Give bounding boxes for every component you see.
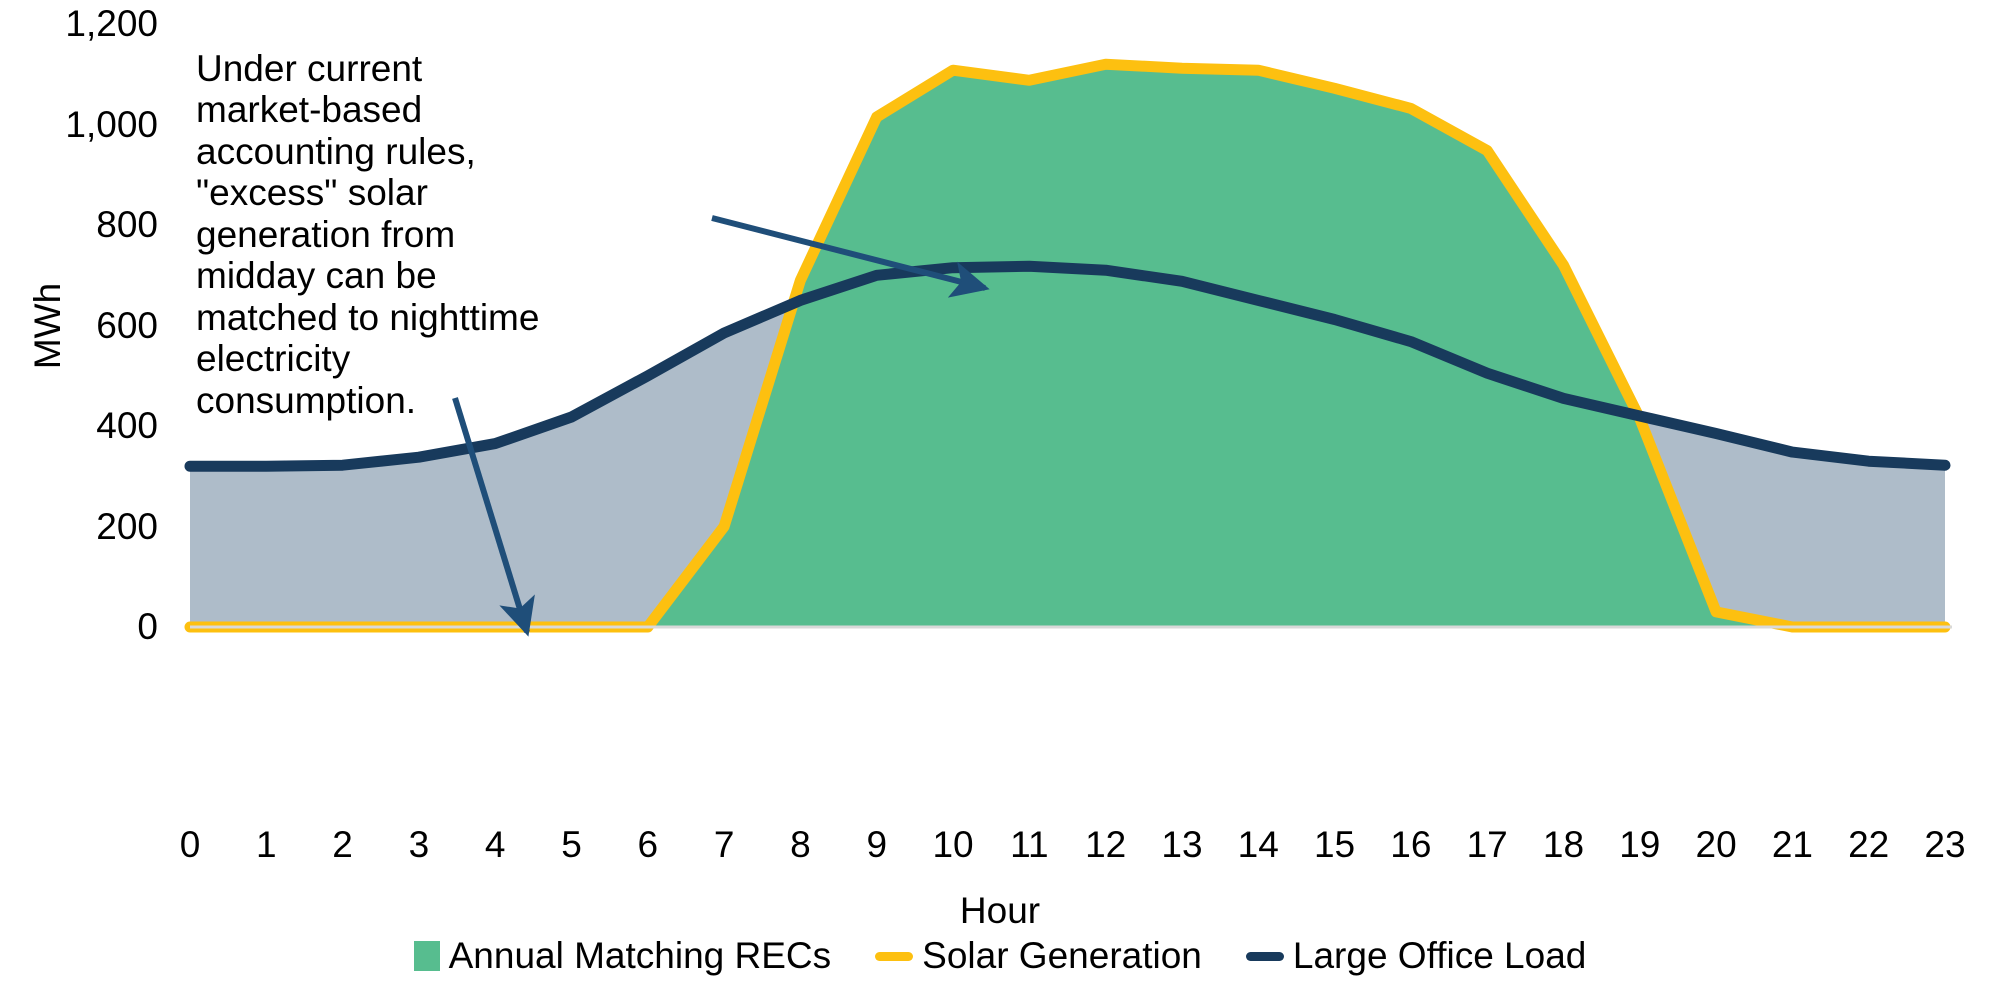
legend-item[interactable]: Annual Matching RECs (414, 935, 832, 977)
x-axis-tick: 1 (236, 826, 296, 863)
x-axis-tick: 14 (1228, 826, 1288, 863)
chart-root: 02004006008001,0001,200 0123456789101112… (0, 0, 2000, 1008)
legend-line-swatch-icon (1246, 952, 1284, 961)
x-axis-tick: 9 (847, 826, 907, 863)
x-axis-tick: 17 (1457, 826, 1517, 863)
x-axis-tick: 7 (694, 826, 754, 863)
annotation-arrow-to-nighttime-load (455, 398, 527, 632)
legend-item-label: Solar Generation (922, 935, 1202, 977)
x-axis-tick: 22 (1839, 826, 1899, 863)
legend-item-label: Annual Matching RECs (449, 935, 832, 977)
x-axis-tick: 18 (1533, 826, 1593, 863)
annotation-textbox: Under current market-based accounting ru… (196, 48, 556, 421)
legend-line-swatch-icon (875, 952, 913, 961)
y-axis-tick: 1,200 (0, 5, 158, 42)
legend-item[interactable]: Solar Generation (875, 935, 1202, 977)
y-axis-tick: 400 (0, 407, 158, 444)
x-axis-tick: 10 (923, 826, 983, 863)
legend-item-label: Large Office Load (1293, 935, 1586, 977)
chart-legend: Annual Matching RECsSolar GenerationLarg… (0, 935, 2000, 977)
y-axis-tick: 0 (0, 608, 158, 645)
x-axis-tick: 15 (1305, 826, 1365, 863)
x-axis-tick: 23 (1915, 826, 1975, 863)
x-axis-tick: 11 (999, 826, 1059, 863)
x-axis-tick: 13 (1152, 826, 1212, 863)
legend-item[interactable]: Large Office Load (1246, 935, 1586, 977)
annotation-arrow-to-excess-solar (712, 218, 985, 288)
x-axis-tick: 19 (1610, 826, 1670, 863)
x-axis-title: Hour (0, 890, 2000, 932)
x-axis-tick: 8 (770, 826, 830, 863)
x-axis-tick: 4 (465, 826, 525, 863)
y-axis-tick: 600 (0, 307, 158, 344)
y-axis-tick: 1,000 (0, 106, 158, 143)
x-axis-tick: 21 (1762, 826, 1822, 863)
x-axis-tick: 5 (542, 826, 602, 863)
x-axis-tick: 2 (313, 826, 373, 863)
legend-area-swatch-icon (414, 941, 440, 971)
x-axis-tick: 12 (1076, 826, 1136, 863)
y-axis-tick: 200 (0, 508, 158, 545)
x-axis-tick: 16 (1381, 826, 1441, 863)
y-axis-title: MWh (27, 256, 69, 396)
y-axis-tick: 800 (0, 206, 158, 243)
x-axis-tick: 20 (1686, 826, 1746, 863)
x-axis-tick: 3 (389, 826, 449, 863)
x-axis-tick: 0 (160, 826, 220, 863)
x-axis-tick: 6 (618, 826, 678, 863)
